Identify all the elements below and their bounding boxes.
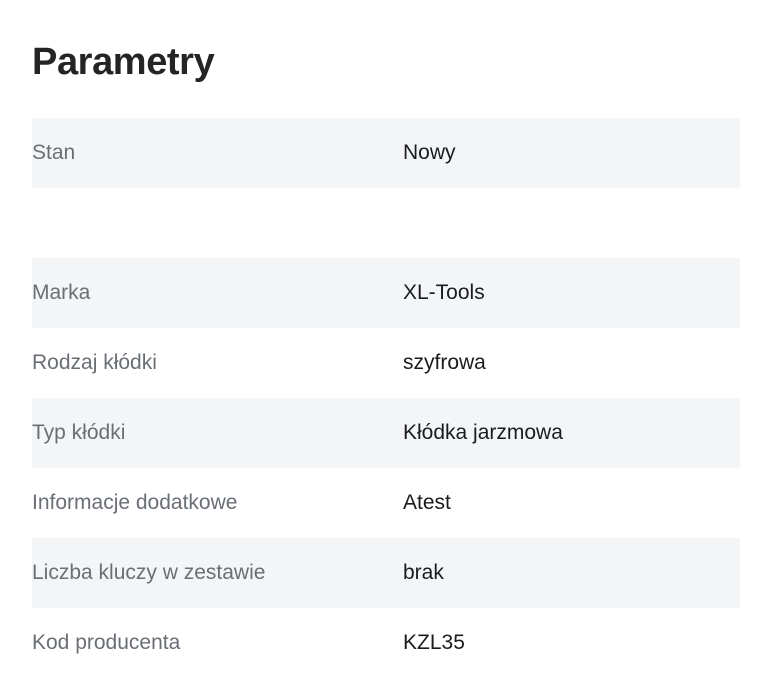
parameter-value: XL-Tools (403, 258, 740, 328)
table-row: Kod producenta KZL35 (32, 608, 740, 678)
page-title: Parametry (32, 39, 214, 85)
parameter-value: brak (403, 538, 740, 608)
table-group-separator-cell-right (403, 188, 740, 258)
table-group-separator (32, 188, 740, 258)
table-group-separator-cell-left (32, 188, 403, 258)
table-row: Marka XL-Tools (32, 258, 740, 328)
table-row: Rodzaj kłódki szyfrowa (32, 328, 740, 398)
parameter-value: KZL35 (403, 608, 740, 678)
product-parameters-page: Parametry Stan Nowy Marka XL-Tools Rodza… (0, 0, 773, 699)
parameter-label: Kod producenta (32, 608, 403, 678)
parameter-value: Atest (403, 468, 740, 538)
parameter-label: Marka (32, 258, 403, 328)
parameter-value: Kłódka jarzmowa (403, 398, 740, 468)
table-row: Informacje dodatkowe Atest (32, 468, 740, 538)
parameter-label: Stan (32, 118, 403, 188)
parameter-label: Typ kłódki (32, 398, 403, 468)
parameter-value: Nowy (403, 118, 740, 188)
parameters-table: Stan Nowy Marka XL-Tools Rodzaj kłódki s… (32, 118, 740, 678)
parameter-label: Liczba kluczy w zestawie (32, 538, 403, 608)
parameter-value: szyfrowa (403, 328, 740, 398)
parameter-label: Rodzaj kłódki (32, 328, 403, 398)
table-row: Stan Nowy (32, 118, 740, 188)
parameters-table-body: Stan Nowy Marka XL-Tools Rodzaj kłódki s… (32, 118, 740, 678)
parameter-label: Informacje dodatkowe (32, 468, 403, 538)
table-row: Liczba kluczy w zestawie brak (32, 538, 740, 608)
table-row: Typ kłódki Kłódka jarzmowa (32, 398, 740, 468)
